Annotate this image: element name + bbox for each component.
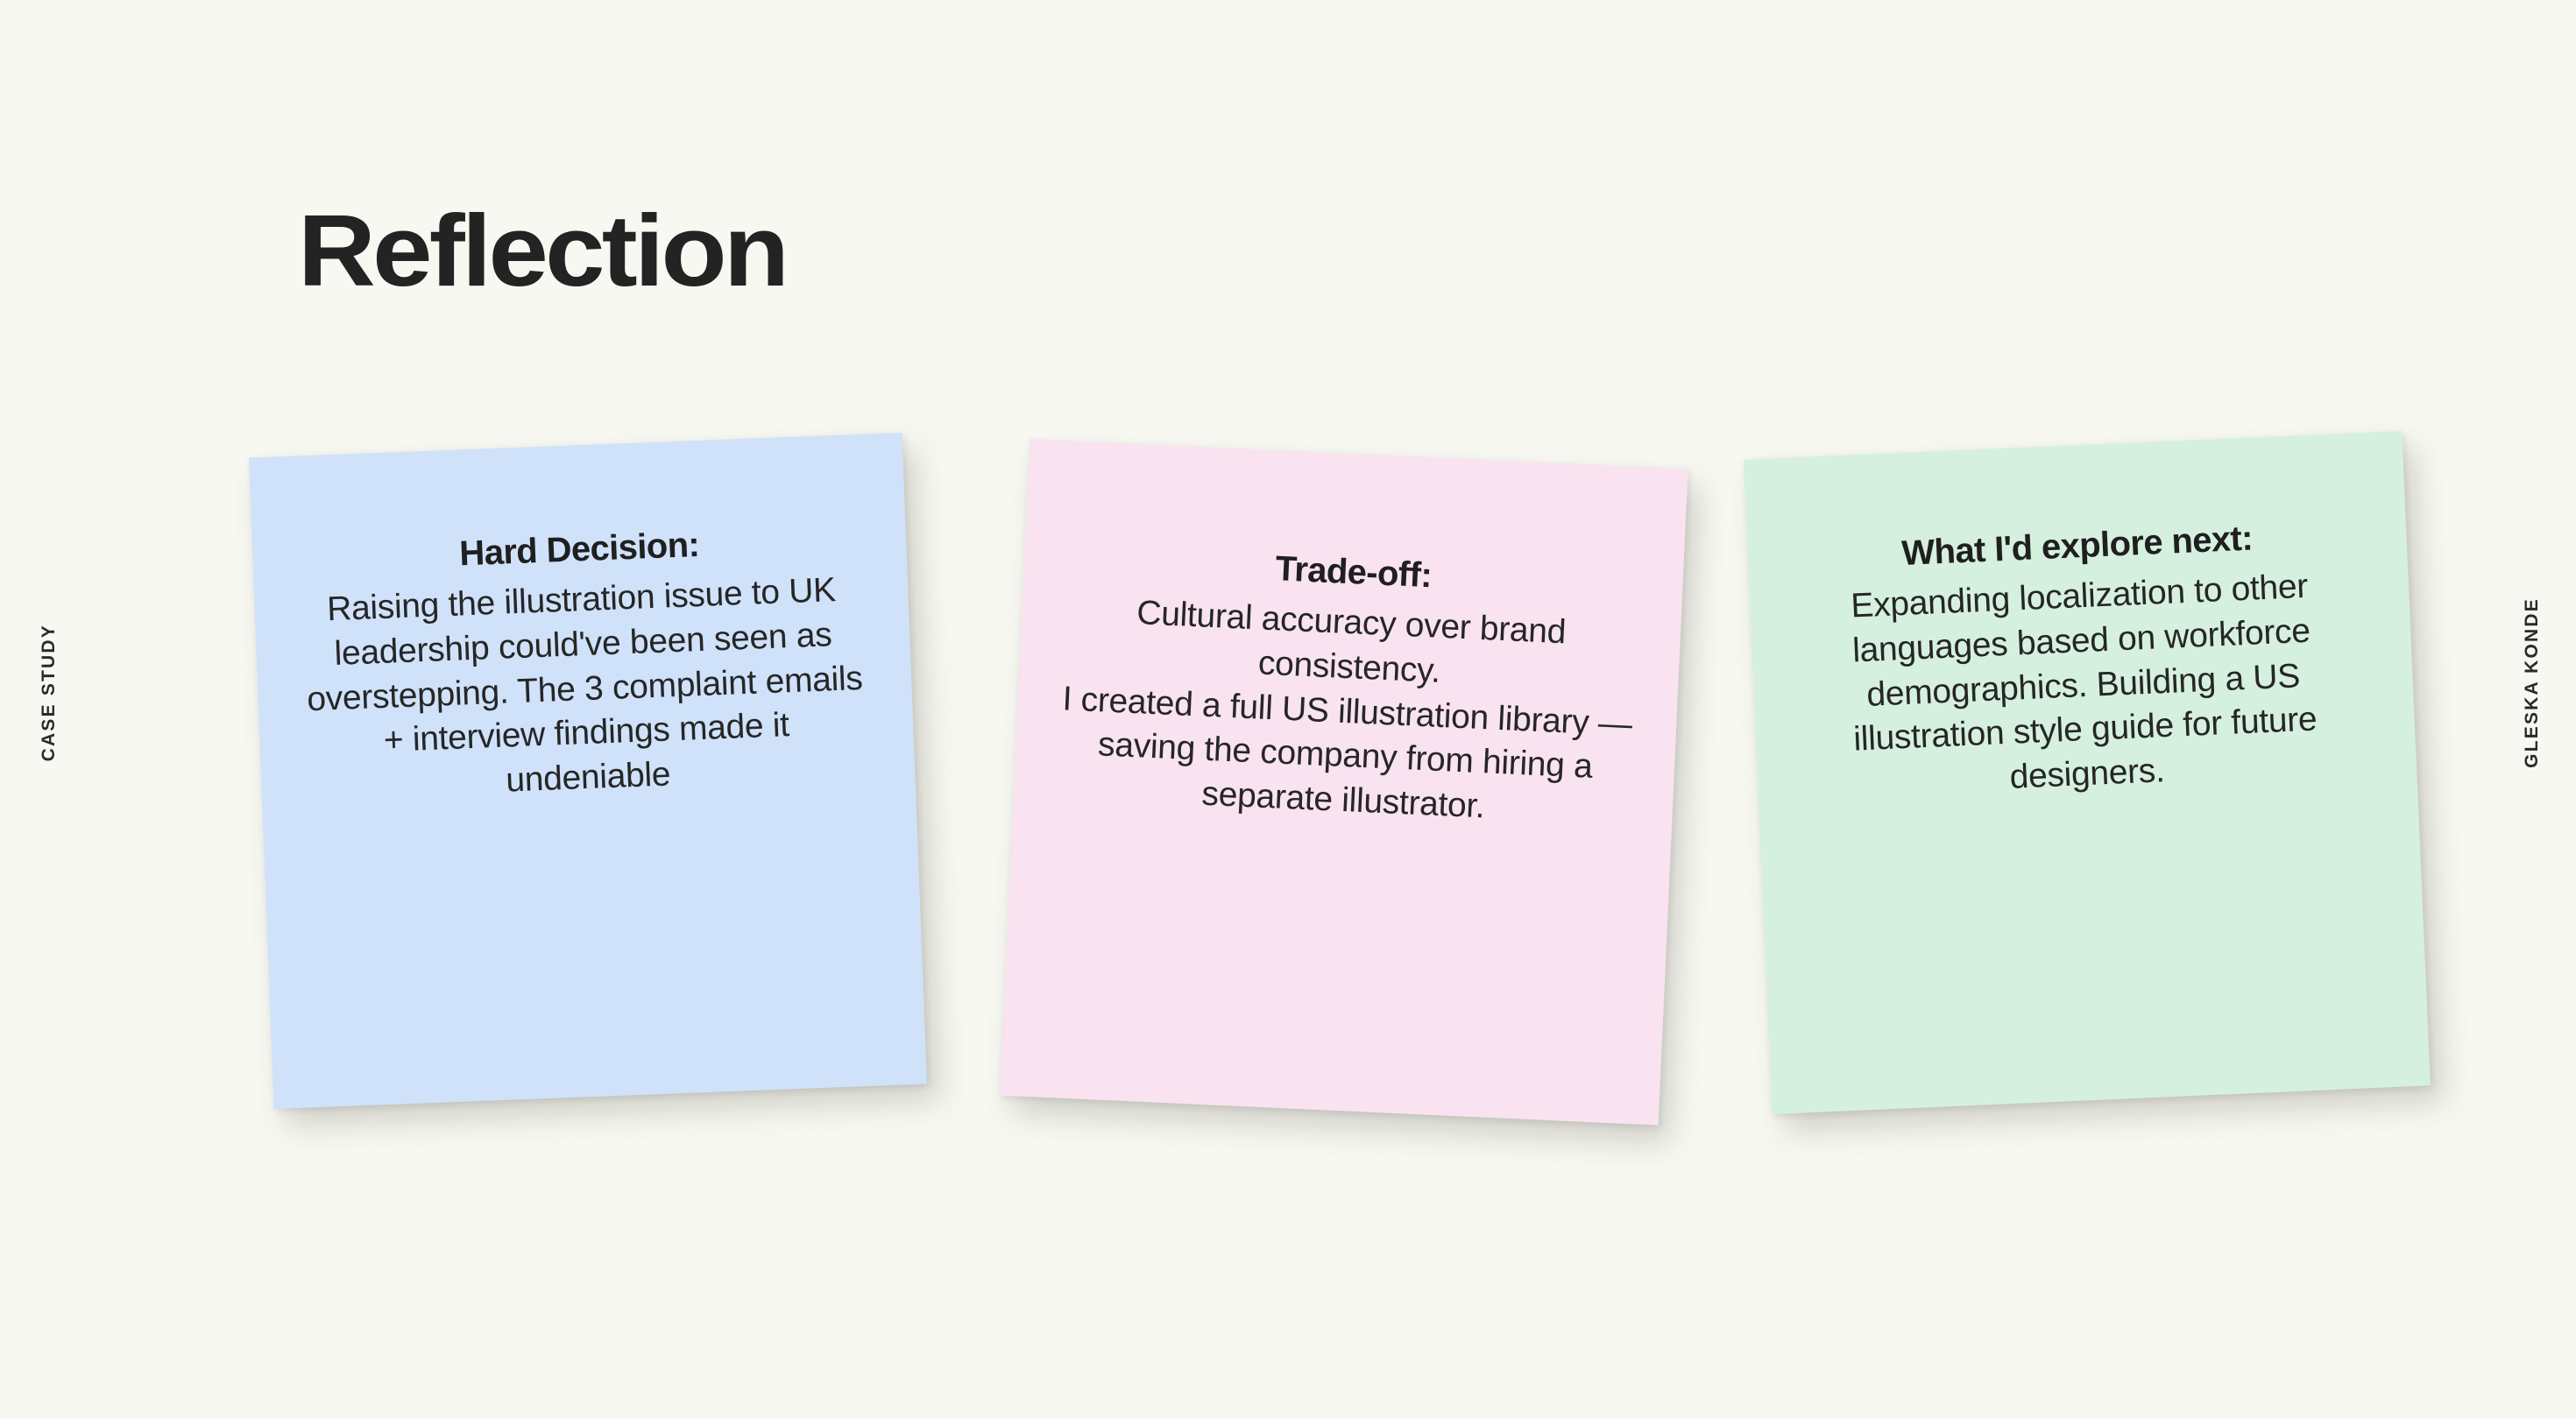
sticky-note-title: Hard Decision: [459,525,701,575]
sticky-note-hard-decision[interactable]: Hard Decision: Raising the illustration … [249,433,927,1109]
sticky-note-title: Trade-off: [1275,548,1433,597]
sticky-note-body: Expanding localization to other language… [1789,562,2376,809]
sticky-note-explore-next[interactable]: What I'd explore next: Expanding localiz… [1744,431,2431,1114]
sticky-note-body: Raising the illustration issue to UK lea… [294,568,875,811]
sticky-note-title: What I'd explore next: [1900,519,2253,575]
slide-canvas: Reflection CASE STUDY GLESKA KONDE Hard … [0,0,2576,1419]
sticky-note-body: Cultural accuracy over brand consistency… [1053,588,1641,836]
sticky-note-trade-off[interactable]: Trade-off: Cultural accuracy over brand … [1000,439,1688,1125]
sticky-notes-group: Hard Decision: Raising the illustration … [0,0,2576,1419]
